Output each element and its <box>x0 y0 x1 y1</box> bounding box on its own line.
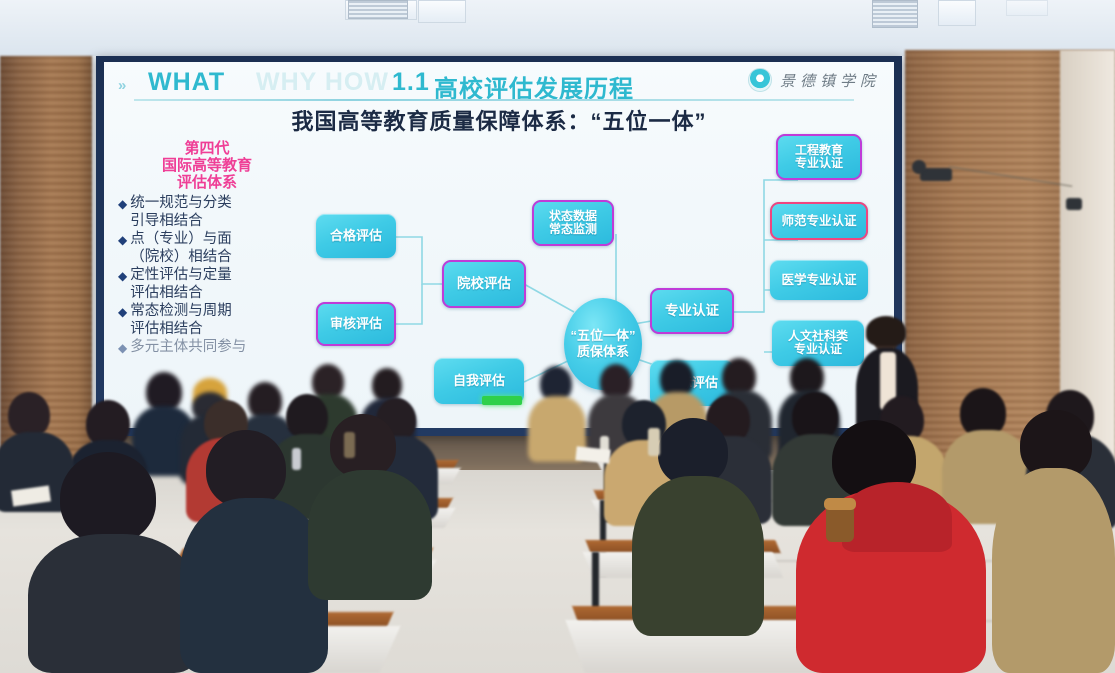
node-zhuanye-renzheng[interactable]: 专业认证 <box>650 288 734 334</box>
ceiling-vent-2 <box>938 0 976 26</box>
center-label-line-2: 质保体系 <box>577 344 629 360</box>
node-shifan-renzheng[interactable]: 师范专业认证 <box>770 202 868 240</box>
node-shenhe-pinggu[interactable]: 审核评估 <box>316 302 396 346</box>
ceiling-light-1 <box>418 0 466 23</box>
bullet-text-1: 统一规范与分类 引导相结合 <box>130 195 232 230</box>
list-item: ◆ 点（专业）与面 （院校）相结合 <box>118 231 296 266</box>
bullet-text-5: 多元主体共同参与 <box>130 339 246 358</box>
header-what: WHAT <box>148 68 225 97</box>
list-item: ◆ 定性评估与定量 评估相结合 <box>118 267 296 302</box>
diamond-bullet-icon: ◆ <box>118 195 127 230</box>
water-bottle <box>292 448 301 470</box>
presentation-slide[interactable]: » WHAT WHY HOW 1.1 高校评估发展历程 景德镇学院 我国高等教育… <box>104 62 894 428</box>
diamond-bullet-icon: ◆ <box>118 267 127 302</box>
bullet-text-2: 点（专业）与面 （院校）相结合 <box>130 231 232 266</box>
title-divider <box>134 99 854 101</box>
left-bullet-list: ◆ 统一规范与分类 引导相结合 ◆ 点（专业）与面 （院校）相结合 ◆ 定性评估… <box>118 195 296 358</box>
ceiling-panel-3 <box>1006 0 1048 16</box>
thermos-cup <box>344 432 355 458</box>
node-zhuangtai-shuju[interactable]: 状态数据 常态监测 <box>532 200 614 246</box>
header-number: 1.1 <box>392 68 430 97</box>
screenshot-root: » WHAT WHY HOW 1.1 高校评估发展历程 景德镇学院 我国高等教育… <box>0 0 1115 673</box>
left-text-panel: 第四代 国际高等教育 评估体系 ◆ 统一规范与分类 引导相结合 ◆ 点（专业）与… <box>118 140 296 359</box>
left-panel-heading: 第四代 国际高等教育 评估体系 <box>118 140 296 191</box>
school-seal-icon <box>748 68 772 92</box>
thermos-cup-lid <box>824 498 856 510</box>
thermos-cup <box>648 428 660 456</box>
audience-head <box>206 430 286 508</box>
node-hege-pinggu[interactable]: 合格评估 <box>316 214 396 258</box>
ceiling-light-2 <box>872 0 918 28</box>
node-yuanxiao-pinggu[interactable]: 院校评估 <box>442 260 526 308</box>
node-label: 自我评估 <box>453 374 505 389</box>
left-heading-line-3: 评估体系 <box>118 174 296 191</box>
audience-body <box>28 534 198 673</box>
audience-body <box>180 498 328 673</box>
node-label: 状态数据 常态监测 <box>549 210 597 237</box>
diamond-bullet-icon: ◆ <box>118 339 127 358</box>
wall-camera-lens-icon <box>912 160 926 174</box>
node-label: 审核评估 <box>330 317 382 332</box>
node-renwen-shekelei[interactable]: 人文社科类 专业认证 <box>772 320 864 366</box>
node-label: 专业认证 <box>665 303 719 318</box>
presenter-hair <box>866 316 906 346</box>
node-gongcheng-jiaoyu[interactable]: 工程教育 专业认证 <box>776 134 862 180</box>
center-label-line-1: “五位一体” <box>570 328 635 344</box>
audience-head <box>330 414 396 478</box>
left-heading-line-1: 第四代 <box>118 140 296 157</box>
list-item: ◆ 多元主体共同参与 <box>118 339 296 358</box>
chevron-right-icon: » <box>118 77 124 94</box>
ceiling-vent-grille-1 <box>348 0 408 19</box>
list-item: ◆ 常态检测与周期 评估相结合 <box>118 303 296 338</box>
node-label: 医学专业认证 <box>781 273 856 287</box>
header-why-how: WHY HOW <box>256 68 389 97</box>
slide-subtitle: 我国高等教育质量保障体系：“五位一体” <box>104 104 894 136</box>
diamond-bullet-icon: ◆ <box>118 303 127 338</box>
node-label: 师范专业认证 <box>781 214 856 228</box>
red-jacket-hood <box>842 482 952 552</box>
diamond-bullet-icon: ◆ <box>118 231 127 266</box>
audience-head <box>372 368 402 402</box>
school-logo: 景德镇学院 <box>748 68 880 92</box>
school-logo-text: 景德镇学院 <box>780 70 880 91</box>
bullet-text-3: 定性评估与定量 评估相结合 <box>130 267 232 302</box>
slide-header: » WHAT WHY HOW 1.1 高校评估发展历程 景德镇学院 <box>104 64 894 98</box>
audience-body <box>632 476 764 636</box>
left-heading-line-2: 国际高等教育 <box>118 157 296 174</box>
node-label: 院校评估 <box>457 276 511 291</box>
node-label: 合格评估 <box>330 229 382 244</box>
node-yixue-renzheng[interactable]: 医学专业认证 <box>770 260 868 300</box>
wall-mount-bracket <box>1066 198 1082 210</box>
bullet-text-4: 常态检测与周期 评估相结合 <box>130 303 232 338</box>
audience-body <box>308 470 432 600</box>
node-label: 人文社科类 专业认证 <box>788 330 848 357</box>
audience-head <box>60 452 156 544</box>
list-item: ◆ 统一规范与分类 引导相结合 <box>118 195 296 230</box>
laser-highlight <box>482 396 522 405</box>
node-label: 工程教育 专业认证 <box>795 144 843 171</box>
audience-body <box>992 468 1115 673</box>
